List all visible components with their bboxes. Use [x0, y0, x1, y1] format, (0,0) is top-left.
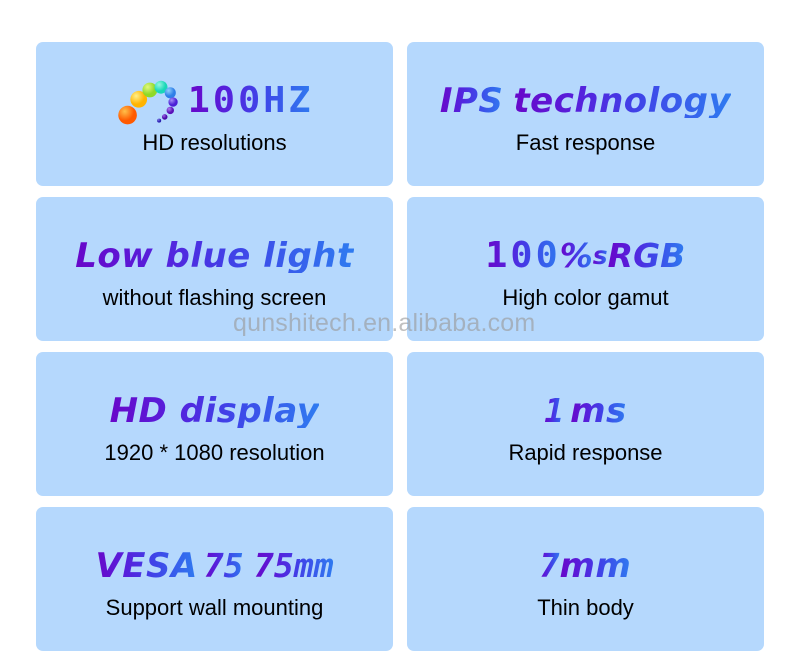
feature-card-low-blue-light[interactable]: Low blue light without flashing screen: [36, 197, 393, 341]
subtitle-color-gamut: High color gamut: [502, 286, 668, 310]
headline-row: 100HZ: [36, 73, 393, 129]
feature-card-response-time[interactable]: 1 ms Rapid response: [407, 352, 764, 496]
headline-response-digits: 1: [544, 394, 564, 427]
headline-row: IPS technology: [407, 73, 764, 129]
headline-row: 100 % s RGB: [407, 228, 764, 284]
headline-thickness-digits: 7: [540, 549, 560, 582]
headline-vesa-lead: VESA: [95, 549, 197, 583]
headline-hd-display: HD display: [110, 394, 320, 428]
feature-card-hd-display[interactable]: HD display 1920 * 1080 resolution: [36, 352, 393, 496]
headline-refresh-rate: 100HZ: [188, 83, 314, 119]
headline-panel-tail: technology: [513, 84, 731, 118]
subtitle-thickness: Thin body: [537, 596, 634, 620]
headline-gamut-digits: 100: [485, 238, 561, 274]
subtitle-response-time: Rapid response: [508, 441, 662, 465]
subtitle-low-blue-light: without flashing screen: [103, 286, 327, 310]
headline-row: 7 mm: [407, 538, 764, 594]
subtitle-hd-display: 1920 * 1080 resolution: [104, 441, 324, 465]
subtitle-panel-type: Fast response: [516, 131, 655, 155]
headline-vesa-second: 75mm: [254, 549, 333, 582]
headline-panel-lead: IPS: [440, 84, 504, 118]
feature-grid: 100HZ HD resolutions IPS technology Fast…: [36, 42, 764, 619]
feature-card-panel-type[interactable]: IPS technology Fast response: [407, 42, 764, 186]
headline-gamut-percent: %: [560, 239, 593, 272]
headline-gamut-s: s: [593, 243, 608, 268]
headline-row: Low blue light: [36, 228, 393, 284]
headline-row: VESA 75 * 75mm: [36, 538, 393, 594]
subtitle-vesa-mount: Support wall mounting: [106, 596, 324, 620]
headline-thickness-unit: mm: [560, 549, 632, 583]
headline-vesa-first: 75: [204, 549, 244, 582]
rainbow-dot-spiral-icon: [117, 77, 179, 129]
headline-low-blue-light: Low blue light: [75, 239, 353, 273]
headline-response-unit: ms: [570, 394, 627, 428]
headline-row: HD display: [36, 383, 393, 439]
feature-card-thickness[interactable]: 7 mm Thin body: [407, 507, 764, 651]
subtitle-refresh-rate: HD resolutions: [142, 131, 286, 155]
headline-gamut-rgb: RGB: [608, 239, 686, 272]
feature-card-vesa-mount[interactable]: VESA 75 * 75mm Support wall mounting: [36, 507, 393, 651]
feature-card-refresh-rate[interactable]: 100HZ HD resolutions: [36, 42, 393, 186]
headline-row: 1 ms: [407, 383, 764, 439]
feature-card-color-gamut[interactable]: 100 % s RGB High color gamut: [407, 197, 764, 341]
